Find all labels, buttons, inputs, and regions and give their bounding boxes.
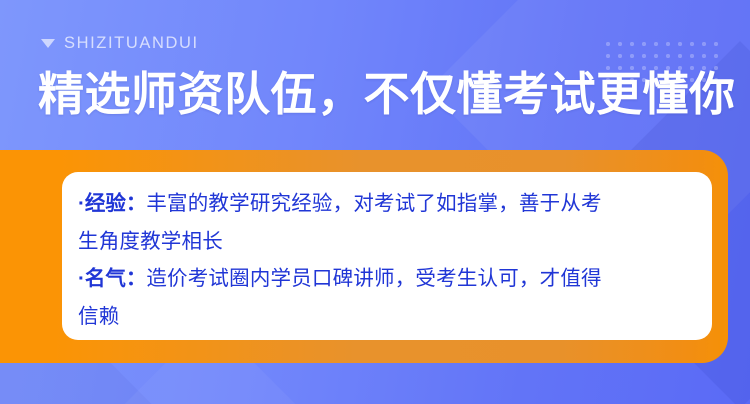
feature-card: ·经验：丰富的教学研究经验，对考试了如指掌，善于从考 生角度教学相长 ·名气：造… bbox=[62, 172, 712, 340]
feature-line-text: 丰富的教学研究经验，对考试了如指掌，善于从考 bbox=[146, 192, 601, 215]
feature-line-text: 生角度教学相长 bbox=[78, 230, 223, 253]
feature-line-label: ·名气： bbox=[78, 267, 146, 290]
feature-line-label: ·经验： bbox=[78, 192, 146, 215]
triangle-down-icon bbox=[41, 39, 55, 48]
feature-line: ·经验：丰富的教学研究经验，对考试了如指掌，善于从考 bbox=[78, 185, 690, 223]
feature-line: 信赖 bbox=[78, 298, 690, 336]
eyebrow: SHIZITUANDUI bbox=[41, 33, 199, 53]
feature-line-text: 造价考试圈内学员口碑讲师，受考生认可，才值得 bbox=[146, 267, 601, 290]
promo-banner: SHIZITUANDUI 精选师资队伍，不仅懂考试更懂你 ·经验：丰富的教学研究… bbox=[0, 0, 750, 404]
eyebrow-label: SHIZITUANDUI bbox=[64, 34, 199, 53]
page-title: 精选师资队伍，不仅懂考试更懂你 bbox=[38, 68, 736, 121]
feature-line: ·名气：造价考试圈内学员口碑讲师，受考生认可，才值得 bbox=[78, 260, 690, 298]
feature-line-text: 信赖 bbox=[78, 305, 119, 328]
feature-line: 生角度教学相长 bbox=[78, 223, 690, 261]
